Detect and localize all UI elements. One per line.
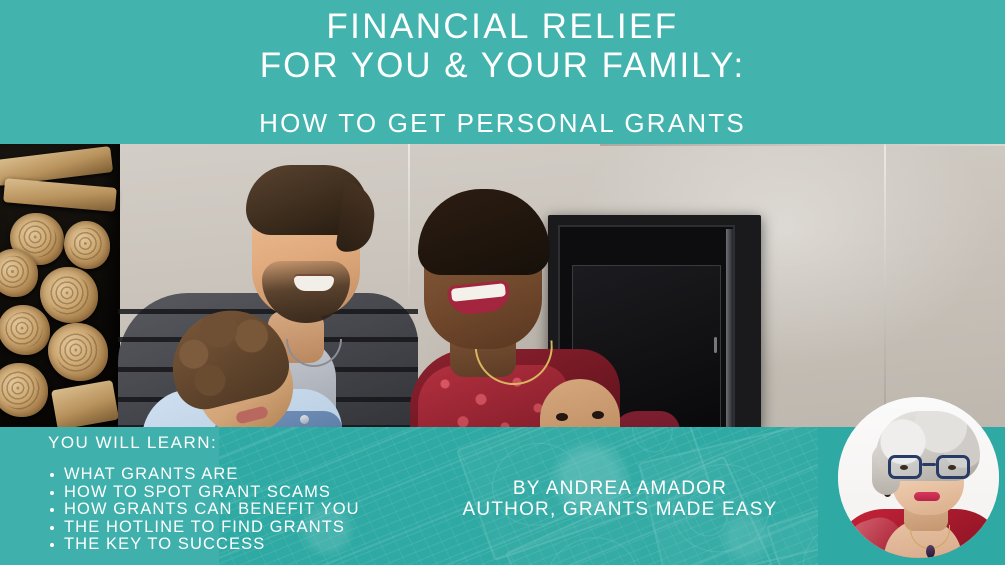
- byline: BY ANDREA AMADOR AUTHOR, GRANTS MADE EAS…: [420, 478, 820, 520]
- mother-hair: [418, 189, 550, 275]
- overall-button: [300, 415, 309, 424]
- title-line-1: FINANCIAL RELIEF: [0, 7, 1005, 46]
- portrait-eye: [900, 465, 908, 470]
- learn-bullet-list: WHAT GRANTS ARE HOW TO SPOT GRANT SCAMS …: [47, 466, 360, 554]
- subtitle: HOW TO GET PERSONAL GRANTS: [0, 108, 1005, 138]
- byline-credential: AUTHOR, GRANTS MADE EASY: [420, 499, 820, 520]
- family-group: [0, 143, 1005, 428]
- list-item: THE KEY TO SUCCESS: [47, 536, 360, 554]
- list-item: HOW TO SPOT GRANT SCAMS: [47, 484, 360, 502]
- portrait-lips: [914, 492, 940, 501]
- father-mouth: [294, 276, 334, 291]
- learn-heading: YOU WILL LEARN:: [48, 433, 217, 452]
- list-item: WHAT GRANTS ARE: [47, 466, 360, 484]
- portrait-pendant: [926, 545, 935, 558]
- title-line-2: FOR YOU & YOUR FAMILY:: [0, 46, 1005, 85]
- author-portrait: [838, 397, 999, 558]
- promo-graphic: FINANCIAL RELIEF FOR YOU & YOUR FAMILY: …: [0, 0, 1005, 565]
- header-band: FINANCIAL RELIEF FOR YOU & YOUR FAMILY: …: [0, 0, 1005, 144]
- list-item: HOW GRANTS CAN BENEFIT YOU: [47, 501, 360, 519]
- title-block: FINANCIAL RELIEF FOR YOU & YOUR FAMILY:: [0, 7, 1005, 85]
- portrait-eye: [948, 465, 956, 470]
- family-photo: [0, 143, 1005, 428]
- byline-author: BY ANDREA AMADOR: [420, 478, 820, 499]
- list-item: THE HOTLINE TO FIND GRANTS: [47, 519, 360, 537]
